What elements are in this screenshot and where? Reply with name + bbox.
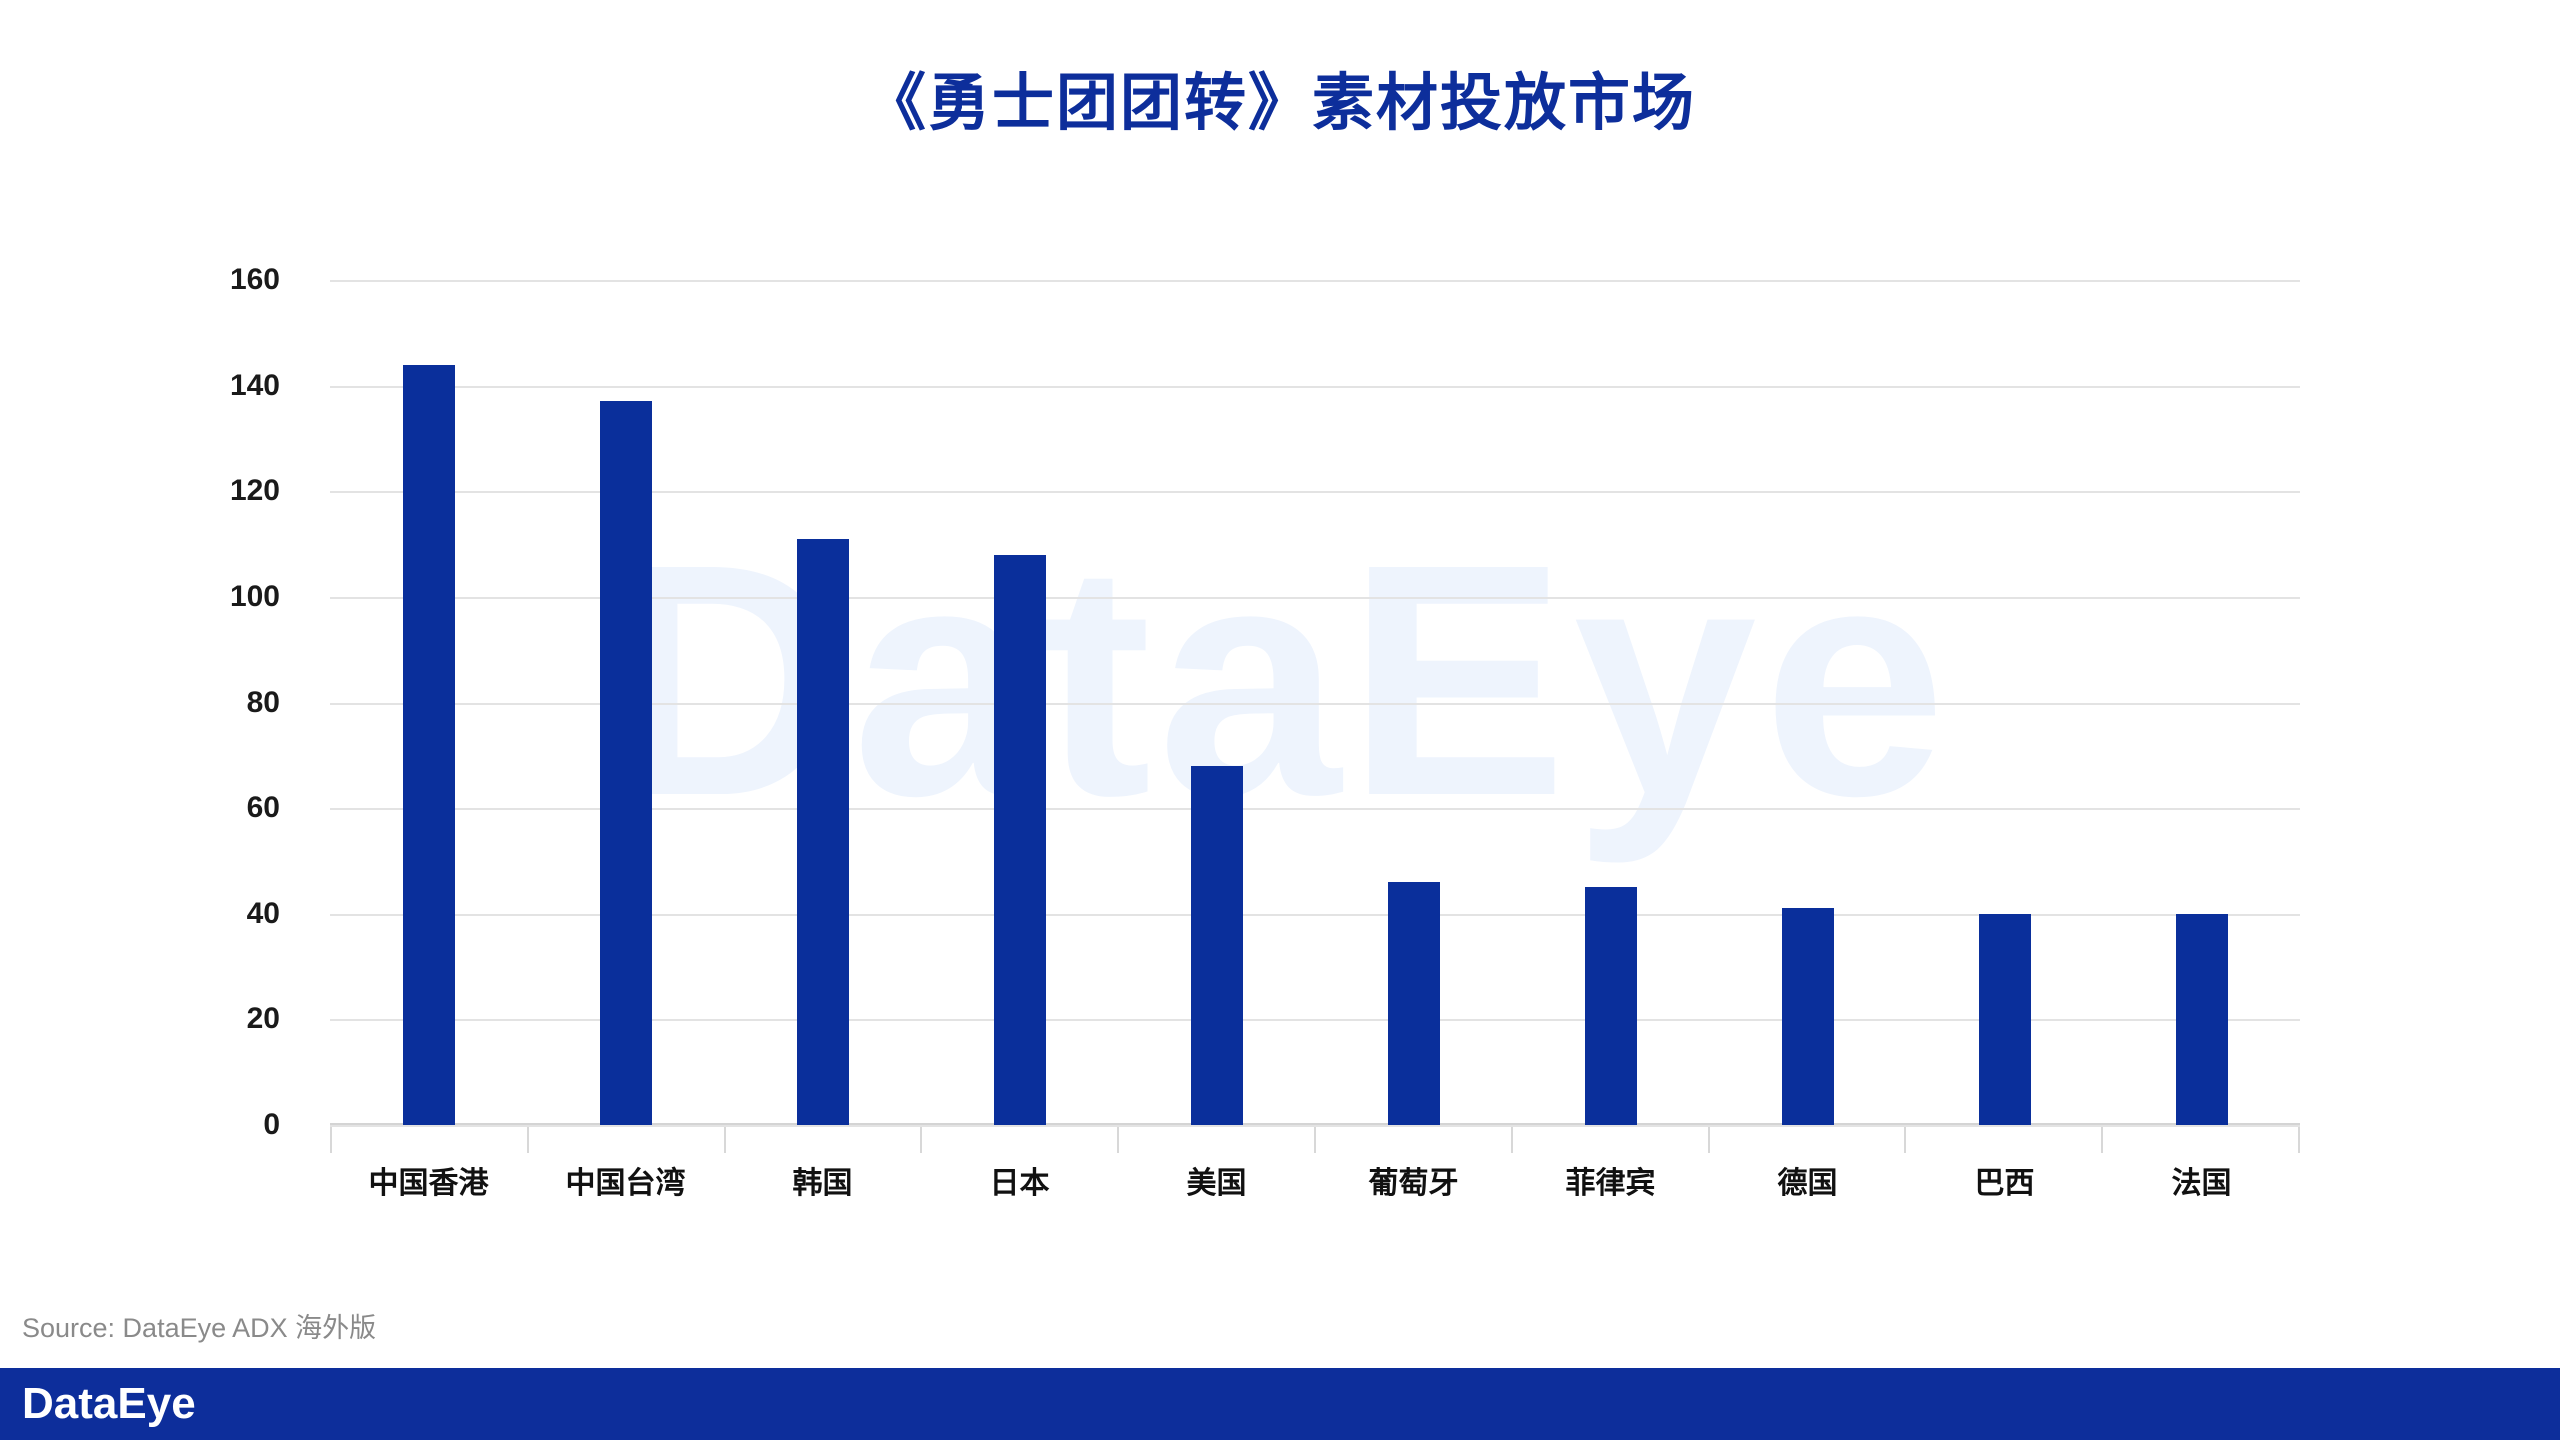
x-tick [1316,1127,1513,1153]
x-tick-label: 德国 [1709,1158,1906,1202]
x-tick [2103,1127,2300,1153]
x-tick-label: 巴西 [1906,1158,2103,1202]
y-tick-label: 100 [230,580,280,614]
y-tick-label: 140 [230,369,280,403]
bar-slot [921,280,1118,1125]
bar-slot [1906,280,2103,1125]
bar[interactable] [1782,908,1834,1125]
bar-slot [724,280,921,1125]
x-tick-label: 中国台湾 [527,1158,724,1202]
bar-slot [1709,280,1906,1125]
footer-bar: DataEye [0,1368,2560,1440]
bar[interactable] [600,401,652,1125]
bar[interactable] [1979,914,2031,1125]
bar[interactable] [2176,914,2228,1125]
y-axis: 160140120100806040200 [150,280,310,1125]
x-tick [1119,1127,1316,1153]
bar-slot [527,280,724,1125]
x-tick [726,1127,923,1153]
bar[interactable] [403,365,455,1126]
bar-series [330,280,2300,1125]
bar[interactable] [1191,766,1243,1125]
x-tick-label: 中国香港 [330,1158,527,1202]
bar[interactable] [1585,887,1637,1125]
x-tick [1513,1127,1710,1153]
x-tick-label: 菲律宾 [1512,1158,1709,1202]
chart-page: 《勇士团团转》素材投放市场 DataEye 160140120100806040… [0,0,2560,1440]
x-axis-labels: 中国香港中国台湾韩国日本美国葡萄牙菲律宾德国巴西法国 [330,1158,2300,1202]
x-tick-label: 日本 [921,1158,1118,1202]
bar-slot [1118,280,1315,1125]
bar[interactable] [1388,882,1440,1125]
x-axis-ticks [330,1127,2300,1153]
x-tick [1710,1127,1907,1153]
y-tick-label: 120 [230,474,280,508]
y-tick-label: 160 [230,263,280,297]
bar-slot [1315,280,1512,1125]
x-tick [330,1127,529,1153]
x-tick-label: 法国 [2103,1158,2300,1202]
source-note: Source: DataEye ADX 海外版 [22,1306,376,1345]
x-tick-label: 葡萄牙 [1315,1158,1512,1202]
dataeye-logo: DataEye [22,1382,196,1426]
x-tick [922,1127,1119,1153]
x-tick-label: 韩国 [724,1158,921,1202]
y-tick-label: 60 [247,791,280,825]
y-tick-label: 40 [247,897,280,931]
bar[interactable] [994,555,1046,1125]
y-tick-label: 20 [247,1002,280,1036]
bar-slot [1512,280,1709,1125]
x-tick-label: 美国 [1118,1158,1315,1202]
bar-slot [330,280,527,1125]
bar-slot [2103,280,2300,1125]
y-tick-label: 0 [263,1108,280,1142]
y-tick-label: 80 [247,686,280,720]
bar[interactable] [797,539,849,1125]
page-title: 《勇士团团转》素材投放市场 [0,52,2560,142]
x-tick [1906,1127,2103,1153]
x-tick [529,1127,726,1153]
